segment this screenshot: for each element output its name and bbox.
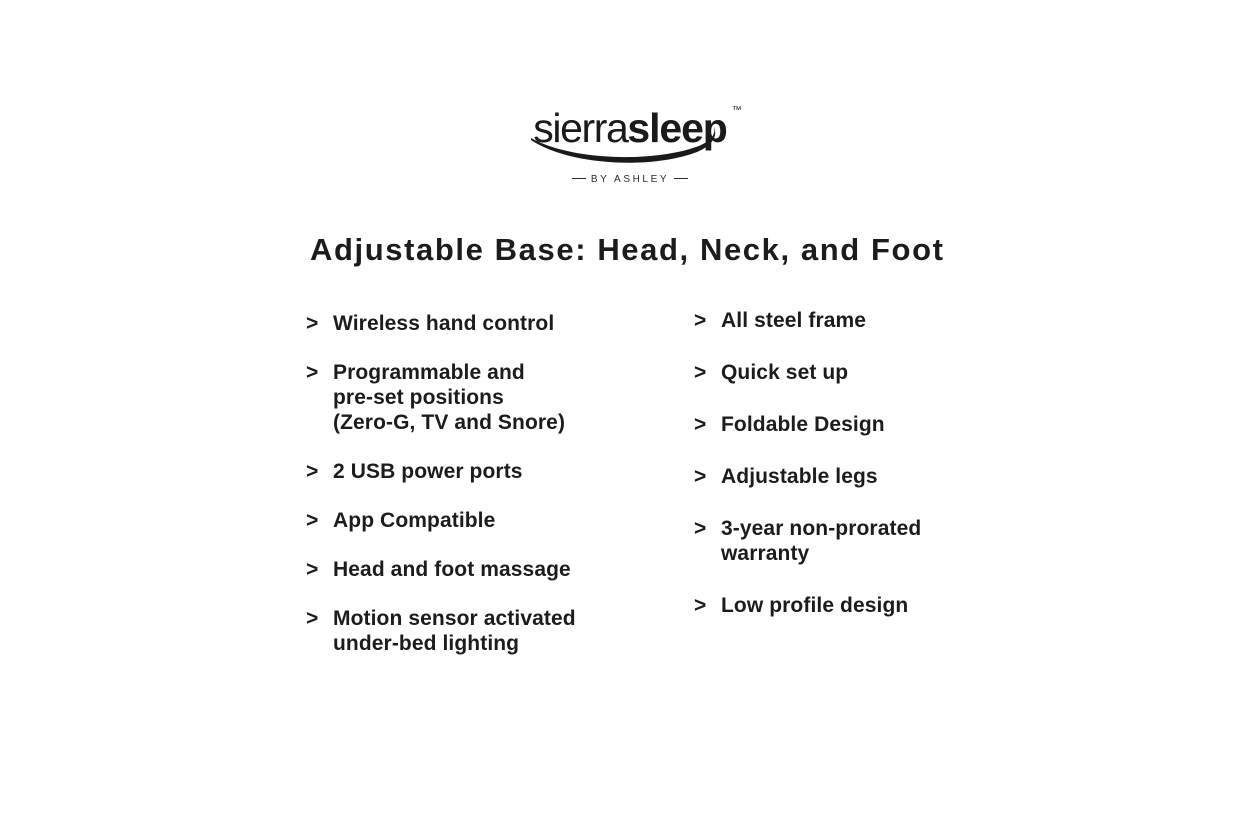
list-item: > Foldable Design [694,412,994,437]
feature-label: Programmable and pre-set positions (Zero… [333,360,636,435]
logo-byline: BY ASHLEY [0,174,1260,185]
list-item: > Programmable and pre-set positions (Ze… [306,360,636,435]
list-item: > Adjustable legs [694,464,994,489]
list-item: > 3-year non-prorated warranty [694,516,994,566]
feature-label: Foldable Design [721,412,994,437]
feature-label: 3-year non-prorated warranty [721,516,994,566]
feature-label: Wireless hand control [333,311,636,336]
chevron-right-icon: > [694,516,721,541]
byline-dash-left [572,178,586,179]
feature-label: App Compatible [333,508,636,533]
byline-dash-right [674,178,688,179]
list-item: > Motion sensor activated under-bed ligh… [306,606,636,656]
feature-label: Adjustable legs [721,464,994,489]
chevron-right-icon: > [694,360,721,385]
logo-text-sierra: sierra [533,105,627,151]
list-item: > Low profile design [694,593,994,618]
page-title: Adjustable Base: Head, Neck, and Foot [310,232,945,268]
feature-label: Motion sensor activated under-bed lighti… [333,606,636,656]
chevron-right-icon: > [694,464,721,489]
list-item: > Quick set up [694,360,994,385]
chevron-right-icon: > [694,412,721,437]
feature-label: Quick set up [721,360,994,385]
chevron-right-icon: > [694,593,721,618]
list-item: > App Compatible [306,508,636,533]
product-feature-sheet: sierrasleep™ BY ASHLEY Adjustable Base: … [0,0,1260,840]
list-item: > All steel frame [694,308,994,333]
chevron-right-icon: > [306,311,333,336]
list-item: > 2 USB power ports [306,459,636,484]
feature-label: All steel frame [721,308,994,333]
feature-list-right: > All steel frame > Quick set up > Folda… [694,308,994,618]
feature-label: Low profile design [721,593,994,618]
logo-wordmark: sierrasleep™ [533,108,726,149]
chevron-right-icon: > [306,508,333,533]
feature-label: 2 USB power ports [333,459,636,484]
chevron-right-icon: > [306,557,333,582]
trademark-icon: ™ [732,106,742,116]
byline-label: BY ASHLEY [591,174,669,185]
feature-label: Head and foot massage [333,557,636,582]
list-item: > Head and foot massage [306,557,636,582]
chevron-right-icon: > [306,459,333,484]
chevron-right-icon: > [694,308,721,333]
chevron-right-icon: > [306,360,333,385]
chevron-right-icon: > [306,606,333,631]
feature-list-left: > Wireless hand control > Programmable a… [306,311,636,656]
list-item: > Wireless hand control [306,311,636,336]
brand-logo: sierrasleep™ [0,108,1260,149]
logo-text-sleep: sleep [627,105,726,151]
